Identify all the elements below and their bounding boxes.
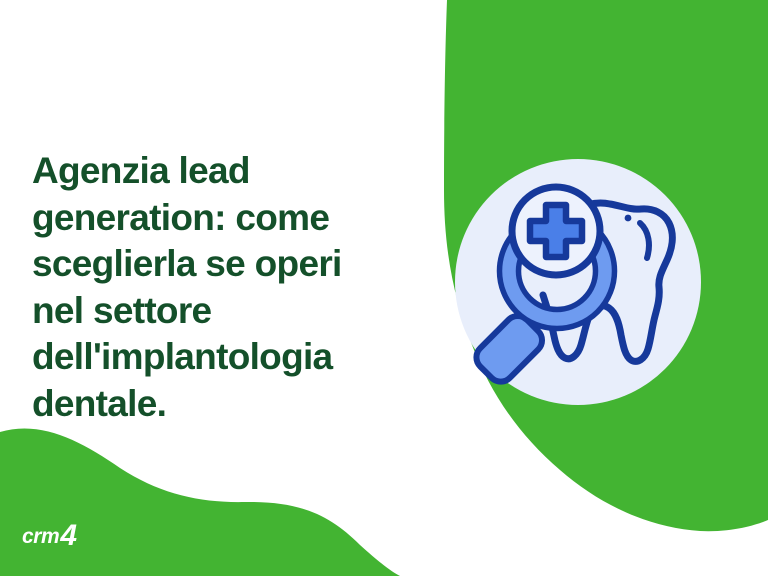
poster-canvas: Agenzia lead generation: come sceglierla… bbox=[0, 0, 768, 576]
brand-logo-number: 4 bbox=[60, 519, 76, 553]
tooth-shine-dot bbox=[625, 215, 632, 222]
green-wave-bottom-left bbox=[0, 428, 400, 576]
brand-logo[interactable]: crm 4 bbox=[22, 517, 76, 551]
brand-logo-word: crm bbox=[22, 525, 59, 549]
page-title: Agenzia lead generation: come sceglierla… bbox=[32, 148, 422, 428]
dental-checkup-illustration bbox=[455, 159, 701, 405]
